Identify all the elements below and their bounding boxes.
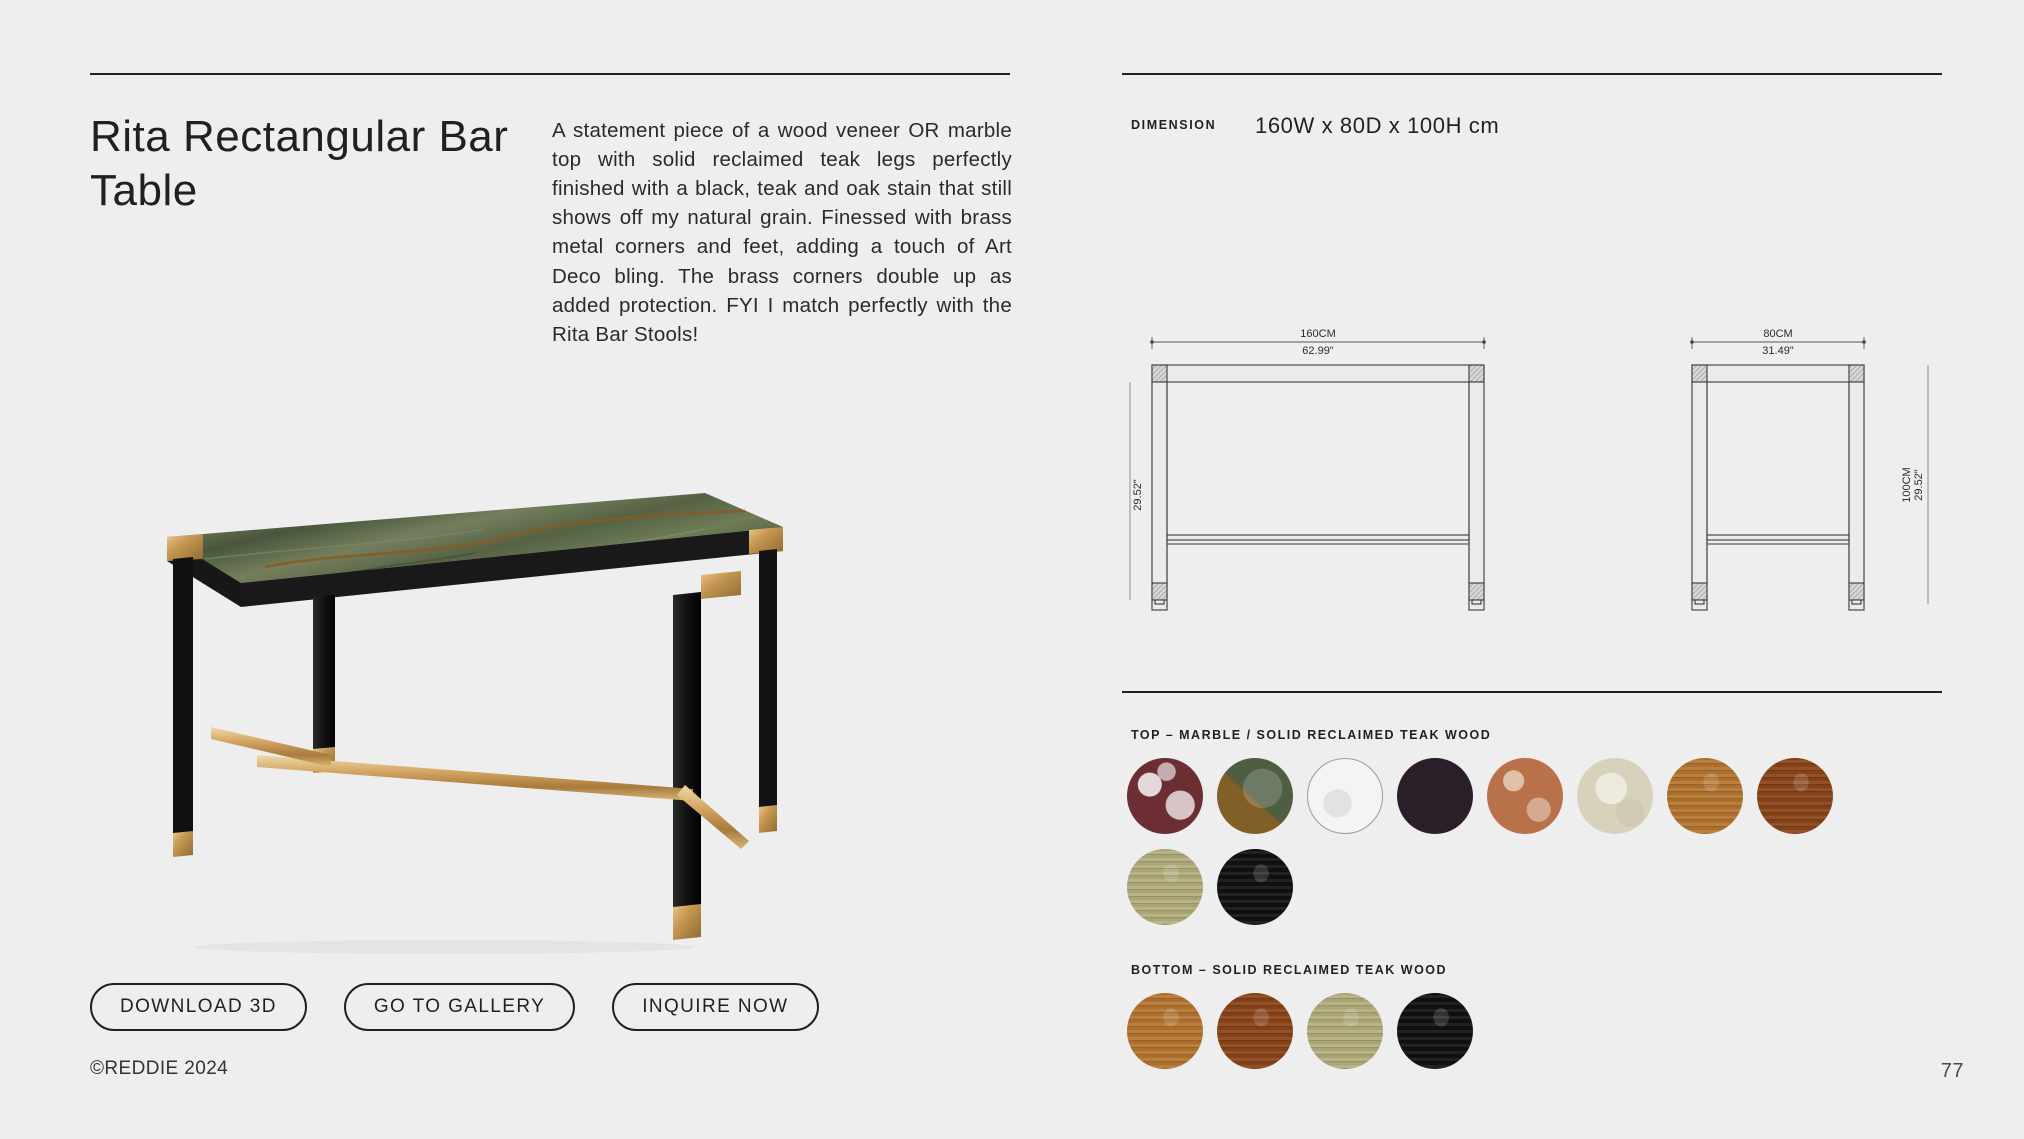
swatch-calacatta-viola-marble[interactable] xyxy=(1127,758,1203,834)
top-materials-heading: TOP – MARBLE / SOLID RECLAIMED TEAK WOOD xyxy=(1131,728,1491,742)
side-height-cm-label: 100CM xyxy=(1901,467,1913,502)
technical-drawings: 160CM 62.99" 80CM 31.49" 29.52" 100CM 29… xyxy=(1122,325,1962,695)
dimension-value: 160W x 80D x 100H cm xyxy=(1255,113,1499,139)
front-height-inch-label: 29.52" xyxy=(1132,479,1144,511)
swatch-dark-walnut-wood[interactable] xyxy=(1757,758,1833,834)
go-to-gallery-button[interactable]: GO TO GALLERY xyxy=(344,983,575,1031)
bottom-materials-heading: BOTTOM – SOLID RECLAIMED TEAK WOOD xyxy=(1131,963,1447,977)
swatch-white-carrara-marble[interactable] xyxy=(1307,758,1383,834)
header-rule-left xyxy=(90,73,1010,75)
technical-drawing-svg: 160CM 62.99" 80CM 31.49" 29.52" 100CM 29… xyxy=(1122,325,1962,695)
product-description: A statement piece of a wood veneer OR ma… xyxy=(552,116,1012,349)
front-width-cm-label: 160CM xyxy=(1300,328,1335,340)
page-title: Rita Rectangular Bar Table xyxy=(90,110,560,217)
side-width-cm-label: 80CM xyxy=(1763,328,1792,340)
swatch-natural-teak-wood[interactable] xyxy=(1667,758,1743,834)
swatch-beige-travertine[interactable] xyxy=(1577,758,1653,834)
download-3d-button[interactable]: DOWNLOAD 3D xyxy=(90,983,307,1031)
dimension-label: DIMENSION xyxy=(1131,118,1216,132)
swatch-oak-stain-wood[interactable] xyxy=(1127,849,1203,925)
header-rule-right xyxy=(1122,73,1942,75)
page-number: 77 xyxy=(1941,1060,1964,1083)
top-materials-swatches xyxy=(1127,758,1867,925)
side-height-inch-label: 29.52" xyxy=(1913,469,1925,501)
catalog-page: Rita Rectangular Bar Table A statement p… xyxy=(0,0,2024,1139)
bar-table-illustration xyxy=(145,455,805,955)
product-photo xyxy=(145,455,805,955)
right-panel: DIMENSION 160W x 80D x 100H cm xyxy=(1122,0,1962,1139)
left-panel: Rita Rectangular Bar Table A statement p… xyxy=(90,0,1020,1139)
swatch-black-stain-wood[interactable] xyxy=(1397,993,1473,1069)
swatch-black-stain-wood[interactable] xyxy=(1217,849,1293,925)
action-buttons: DOWNLOAD 3D GO TO GALLERY INQUIRE NOW xyxy=(90,983,819,1031)
bottom-materials-swatches xyxy=(1127,993,1867,1069)
swatch-oak-stain-wood[interactable] xyxy=(1307,993,1383,1069)
section-divider-rule xyxy=(1122,691,1942,693)
copyright-text: ©REDDIE 2024 xyxy=(90,1058,228,1080)
swatch-portoro-black-marble[interactable] xyxy=(1397,758,1473,834)
inquire-now-button[interactable]: INQUIRE NOW xyxy=(612,983,818,1031)
swatch-dark-walnut-wood[interactable] xyxy=(1217,993,1293,1069)
front-width-inch-label: 62.99" xyxy=(1302,345,1334,357)
swatch-rosso-travertine[interactable] xyxy=(1487,758,1563,834)
swatch-green-forest-marble[interactable] xyxy=(1217,758,1293,834)
side-width-inch-label: 31.49" xyxy=(1762,345,1794,357)
swatch-natural-teak-wood[interactable] xyxy=(1127,993,1203,1069)
